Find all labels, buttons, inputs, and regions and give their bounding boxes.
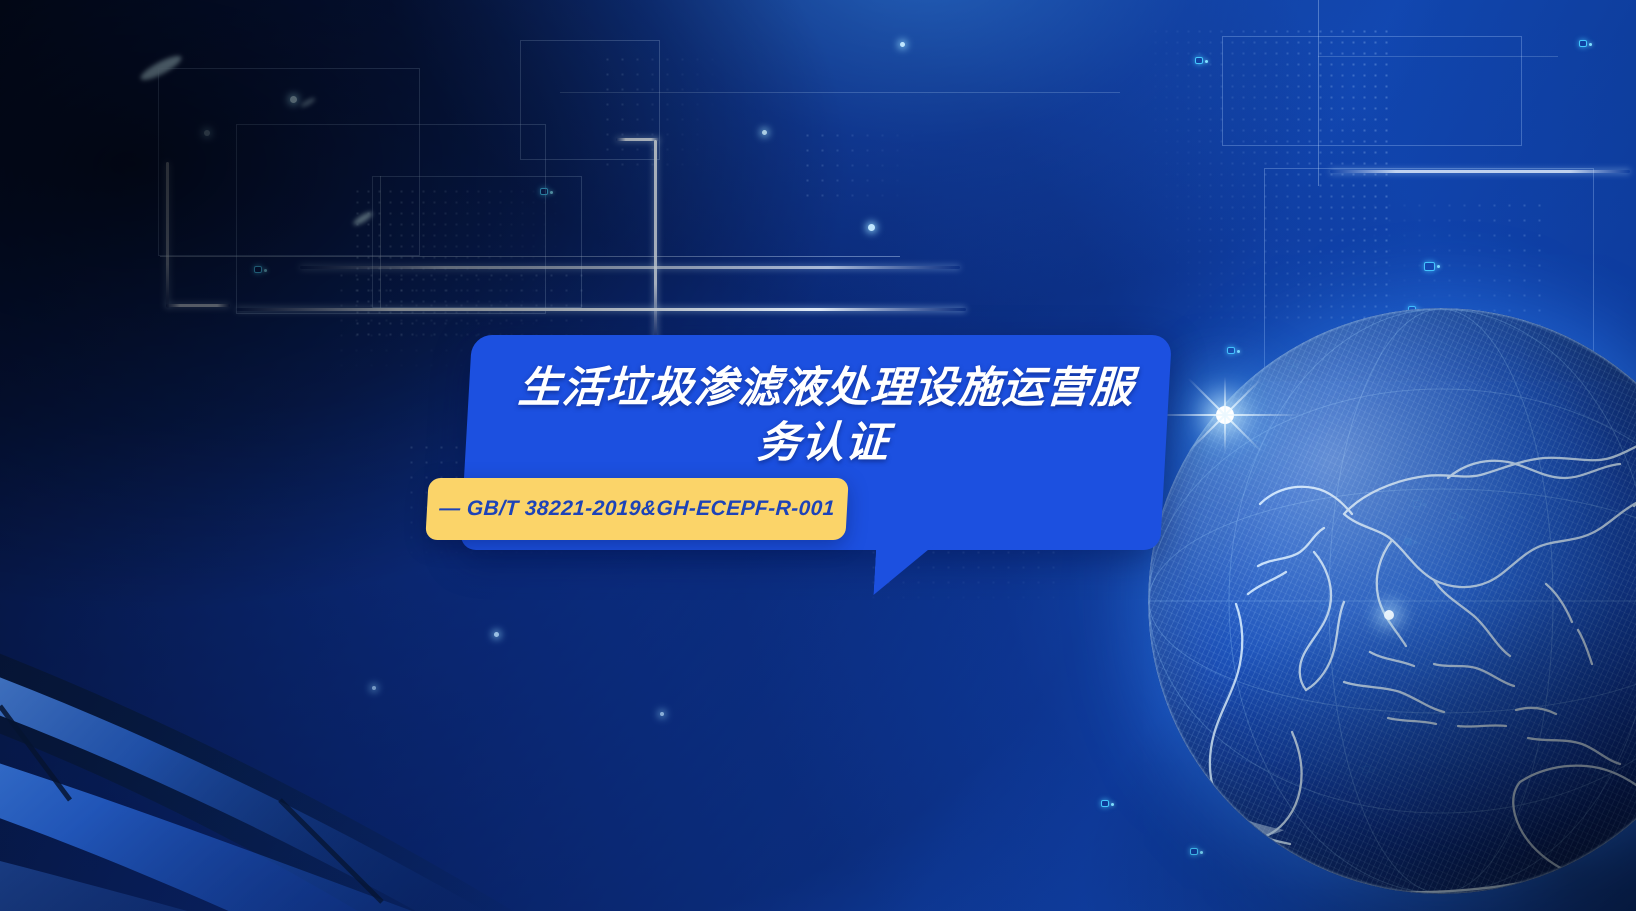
subtitle-text: — GB/T 38221-2019&GH-ECEPF-R-001 xyxy=(426,497,847,521)
slide-canvas: 生活垃圾渗滤液处理设施运营服务认证 — GB/T 38221-2019&GH-E… xyxy=(0,0,1636,911)
subtitle-chip: — GB/T 38221-2019&GH-ECEPF-R-001 xyxy=(425,478,848,540)
page-title: 生活垃圾渗滤液处理设施运营服务认证 xyxy=(502,361,1146,471)
